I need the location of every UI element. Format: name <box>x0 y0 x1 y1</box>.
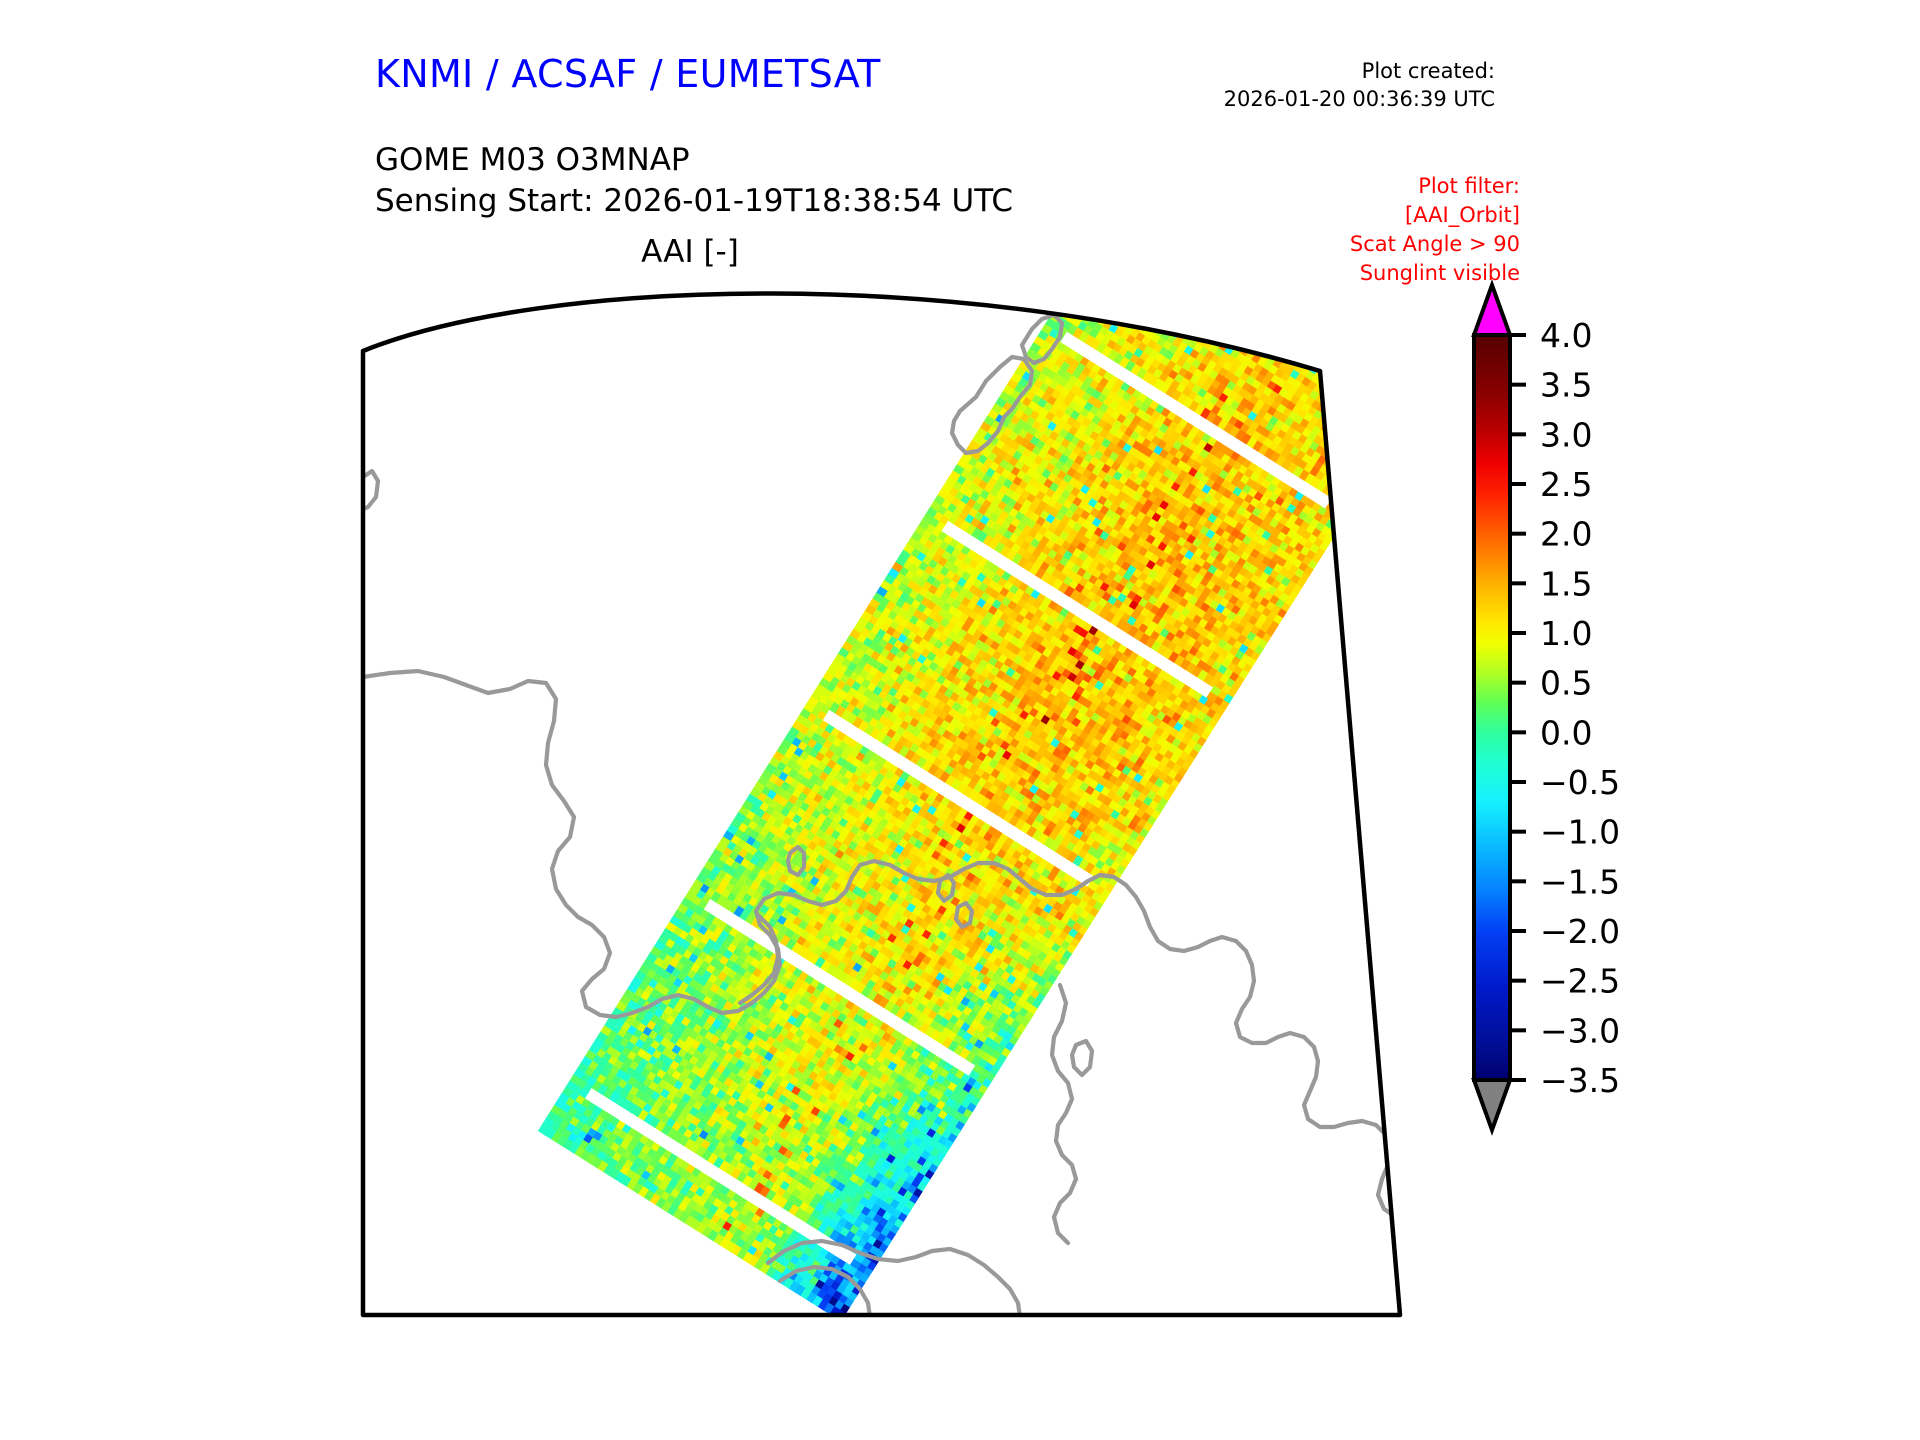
swath-cell <box>1360 406 1373 419</box>
product-info-block: GOME M03 O3MNAP Sensing Start: 2026-01-1… <box>375 140 1013 222</box>
swath-cell <box>1326 410 1339 423</box>
swath-cell <box>1334 474 1347 487</box>
swath-cell <box>1389 424 1402 437</box>
swath-cell <box>1318 345 1331 358</box>
swath-cell <box>1213 285 1226 292</box>
swath-cell <box>1343 472 1356 485</box>
swath-cell <box>1225 313 1238 326</box>
swath-cell <box>1374 423 1387 436</box>
swath-cell <box>1351 434 1364 447</box>
swath-cell <box>1380 401 1393 414</box>
swath-cell <box>1337 366 1350 379</box>
swath-cell <box>1325 359 1338 372</box>
swath-cell <box>1339 478 1352 491</box>
swath-cell <box>1393 393 1406 406</box>
swath-cell <box>1298 350 1311 363</box>
swath-cell <box>1071 301 1084 314</box>
swath-cell <box>1351 409 1364 422</box>
swath-cell <box>1347 389 1360 402</box>
swath-cell <box>1341 462 1354 475</box>
swath-cell <box>1399 396 1412 409</box>
swath-cell <box>1374 449 1387 462</box>
swath-cell <box>1069 291 1082 304</box>
swath-cell <box>1208 327 1221 340</box>
swath-cell <box>1341 360 1354 373</box>
swath-cell <box>1175 290 1188 303</box>
swath-cell <box>1366 435 1379 448</box>
swath-cell <box>1181 319 1194 332</box>
swath-cell <box>1248 302 1261 315</box>
swath-cell <box>1096 285 1109 287</box>
swath-cell <box>1231 291 1244 304</box>
swath-cell <box>1144 313 1157 326</box>
swath-cell <box>1372 388 1385 401</box>
swath-cell <box>1146 297 1159 310</box>
swath-cell <box>1327 368 1340 381</box>
swath-cell <box>1273 326 1286 339</box>
swath-cell <box>1078 289 1091 302</box>
swath-cell <box>1123 308 1136 321</box>
swath-cell <box>1200 314 1213 327</box>
swath-cell <box>1231 316 1244 329</box>
swath-cell <box>1165 318 1178 331</box>
swath-cell <box>1163 308 1176 321</box>
swath-cell <box>1215 315 1228 328</box>
swath-cell <box>1179 309 1192 322</box>
swath-cell <box>1132 285 1145 293</box>
swath-cell <box>1334 449 1347 462</box>
swath-cell <box>1351 485 1364 498</box>
swath-cell <box>1187 322 1200 335</box>
swath-cell <box>1368 394 1381 407</box>
swath-cell <box>1214 305 1227 318</box>
swath-cell <box>1190 316 1203 329</box>
swath-cell <box>1223 328 1236 341</box>
swath-cell <box>1387 389 1400 402</box>
swath-cell <box>1289 327 1302 340</box>
swath-cell <box>1136 285 1149 286</box>
swath-cell <box>1208 285 1221 289</box>
swath-cell <box>1328 394 1341 407</box>
swath-cell <box>1338 494 1351 507</box>
swath-cell <box>1335 407 1348 420</box>
swath-cell <box>1262 319 1275 332</box>
swath-cell <box>1387 415 1400 428</box>
swath-cell <box>1358 396 1371 409</box>
swath-cell <box>1237 320 1250 333</box>
swath-cell <box>1378 443 1391 456</box>
swath-cell <box>1127 302 1140 315</box>
swath-cell <box>1233 326 1246 339</box>
swath-cell <box>1300 334 1313 347</box>
quantity-title: AAI [-] <box>375 234 1005 270</box>
swath-cell <box>1242 323 1255 336</box>
swath-cell <box>1173 305 1186 318</box>
swath-cell <box>1320 355 1333 368</box>
swath-cell <box>1359 473 1372 486</box>
swath-cell <box>1161 298 1174 311</box>
swath-cell <box>1334 500 1347 513</box>
swath-cell <box>1266 312 1279 325</box>
swath-cell <box>1271 316 1284 329</box>
swath-cell <box>1194 310 1207 323</box>
swath-cell <box>1380 427 1393 440</box>
aai-data-swath <box>538 285 1417 1320</box>
swath-cell <box>1345 482 1358 495</box>
swath-cell <box>1353 444 1366 457</box>
swath-cell <box>1077 285 1090 291</box>
plot-filter-scat-angle: Scat Angle > 90 <box>1350 230 1520 259</box>
swath-cell <box>1169 311 1182 324</box>
organisation-title: KNMI / ACSAF / EUMETSAT <box>375 52 881 96</box>
swath-cell <box>1361 457 1374 470</box>
swath-cell <box>1339 427 1352 440</box>
swath-cell <box>1167 302 1180 315</box>
map-panel <box>360 285 1455 1320</box>
swath-cell <box>1279 330 1292 343</box>
swath-cell <box>1225 287 1238 300</box>
swath-cell <box>1246 317 1259 330</box>
swath-cell <box>1366 384 1379 397</box>
plot-created-block: Plot created: 2026-01-20 00:36:39 UTC <box>1224 58 1495 113</box>
swath-cell <box>1210 286 1223 299</box>
swath-cell <box>1405 400 1418 413</box>
swath-cell <box>1328 420 1341 433</box>
swath-cell <box>1347 466 1360 479</box>
swath-cell <box>1359 448 1372 461</box>
swath-cell <box>1115 295 1128 308</box>
swath-cell <box>1349 399 1362 412</box>
swath-cell <box>1382 385 1395 398</box>
swath-cell <box>1198 304 1211 317</box>
swath-cell <box>1136 299 1149 312</box>
swath-cell <box>1156 294 1169 307</box>
swath-cell <box>1370 429 1383 442</box>
swath-cell <box>1345 405 1358 418</box>
swath-cell <box>1177 285 1190 286</box>
swath-cell <box>1212 296 1225 309</box>
swath-cell <box>1188 285 1201 294</box>
swath-cell <box>1364 400 1377 413</box>
swath-cell <box>1198 285 1211 291</box>
swath-cell <box>1185 313 1198 326</box>
swath-cell <box>1237 294 1250 307</box>
swath-cell <box>1102 303 1115 316</box>
swath-cell <box>1142 285 1155 290</box>
swath-cell <box>1200 288 1213 301</box>
swath-cell <box>1291 337 1304 350</box>
swath-cell <box>1221 293 1234 306</box>
swath-cell <box>1362 416 1375 429</box>
swath-cell <box>1343 497 1356 510</box>
swath-cell <box>1082 285 1095 295</box>
swath-cell <box>1219 309 1232 322</box>
swath-cell <box>1150 316 1163 329</box>
swath-cell <box>1341 385 1354 398</box>
swath-cell <box>1204 308 1217 321</box>
swath-cell <box>1347 440 1360 453</box>
swath-cell <box>1131 296 1144 309</box>
swath-cell <box>1217 299 1230 312</box>
swath-cell <box>1341 411 1354 424</box>
swath-cell <box>1270 332 1283 345</box>
swath-cell <box>1158 304 1171 317</box>
swath-cell <box>1250 311 1263 324</box>
swath-cell <box>1125 292 1138 305</box>
plot-filter-label: Plot filter: <box>1350 172 1520 201</box>
swath-cell <box>1167 285 1180 289</box>
swath-cell <box>1264 328 1277 341</box>
plot-created-label: Plot created: <box>1224 58 1495 86</box>
swath-cell <box>1227 322 1240 335</box>
swath-cell <box>1384 421 1397 434</box>
swath-cell <box>1186 297 1199 310</box>
swath-cell <box>1359 422 1372 435</box>
swath-cell <box>1235 310 1248 323</box>
swath-cell <box>1357 438 1370 451</box>
swath-cell <box>1360 380 1373 393</box>
swath-cell <box>1314 351 1327 364</box>
swath-cell <box>1268 322 1281 335</box>
swath-cell <box>1260 334 1273 347</box>
swath-cell <box>1391 408 1404 421</box>
swath-cell <box>1075 295 1088 308</box>
swath-cell <box>1341 488 1354 501</box>
swath-cell <box>1306 338 1319 351</box>
swath-cell <box>1148 307 1161 320</box>
swath-cell <box>1183 285 1196 290</box>
swath-cell <box>1358 371 1371 384</box>
swath-cell <box>1295 331 1308 344</box>
swath-cell <box>1336 484 1349 497</box>
swath-cell <box>1088 286 1101 299</box>
swath-cell <box>1217 325 1230 338</box>
swath-cell <box>1341 437 1354 450</box>
swath-cell <box>1357 463 1370 476</box>
swath-cell <box>1339 452 1352 465</box>
swath-cell <box>1204 285 1217 295</box>
swath-cell <box>1343 446 1356 459</box>
swath-cell <box>1065 297 1078 310</box>
swath-cell <box>1258 325 1271 338</box>
swath-cell <box>1337 417 1350 430</box>
swath-cell <box>1129 286 1142 299</box>
swath-cell <box>1109 291 1122 304</box>
swath-cell <box>1343 421 1356 434</box>
map-canvas <box>360 285 1455 1320</box>
swath-cell <box>1194 285 1207 297</box>
swath-cell <box>1202 324 1215 337</box>
swath-cell <box>1123 285 1136 295</box>
swath-cell <box>1215 289 1228 302</box>
swath-cell <box>1188 307 1201 320</box>
swath-cell <box>1335 433 1348 446</box>
swath-cell <box>1154 285 1167 297</box>
swath-cell <box>1401 406 1414 419</box>
swath-cell <box>1351 383 1364 396</box>
swath-cell <box>1339 376 1352 389</box>
swath-cell <box>1285 333 1298 346</box>
swath-cell <box>1339 401 1352 414</box>
swath-cell <box>1324 349 1337 362</box>
swath-cell <box>1239 304 1252 317</box>
swath-cell <box>1138 309 1151 322</box>
product-name: GOME M03 O3MNAP <box>375 140 1013 181</box>
swath-cell <box>1163 285 1176 295</box>
swath-cell <box>1355 479 1368 492</box>
swath-cell <box>1345 379 1358 392</box>
swath-cell <box>1372 413 1385 426</box>
swath-cell <box>1144 287 1157 300</box>
swath-cell <box>1335 382 1348 395</box>
swath-cell <box>1227 297 1240 310</box>
swath-cell <box>1308 348 1321 361</box>
swath-cell <box>1094 290 1107 303</box>
swath-cell <box>1181 293 1194 306</box>
swath-cell <box>1393 418 1406 431</box>
swath-cell <box>1283 323 1296 336</box>
swath-cell <box>1378 417 1391 430</box>
swath-cell <box>1287 343 1300 356</box>
swath-cell <box>1370 455 1383 468</box>
swath-cell <box>1326 384 1339 397</box>
swath-cell <box>1332 465 1345 478</box>
swath-cell <box>1332 439 1345 452</box>
swath-cell <box>1084 292 1097 305</box>
swath-cell <box>1378 391 1391 404</box>
swath-cell <box>1357 412 1370 425</box>
sensing-start: Sensing Start: 2026-01-19T18:38:54 UTC <box>375 181 1013 222</box>
plot-filter-block: Plot filter: [AAI_Orbit] Scat Angle > 90… <box>1350 172 1520 288</box>
swath-cell <box>1152 285 1165 288</box>
swath-cell <box>1362 441 1375 454</box>
swath-cell <box>1242 298 1255 311</box>
swath-cell <box>1092 306 1105 319</box>
swath-cell <box>1347 363 1360 376</box>
swath-cell <box>1389 399 1402 412</box>
swath-cell <box>1337 443 1350 456</box>
swath-cell <box>1355 402 1368 415</box>
swath-cell <box>1256 341 1269 354</box>
swath-cell <box>1219 285 1232 296</box>
swath-cell <box>1374 398 1387 411</box>
swath-cell <box>1117 304 1130 317</box>
swath-cell <box>1331 413 1344 426</box>
swath-cell <box>1260 309 1273 322</box>
swath-cell <box>1071 285 1084 288</box>
swath-cell <box>1111 301 1124 314</box>
swath-cell <box>1210 311 1223 324</box>
swath-cell <box>1208 302 1221 315</box>
swath-cell <box>1059 293 1072 306</box>
swath-cell <box>1354 377 1367 390</box>
swath-cell <box>1363 467 1376 480</box>
swath-cell <box>1353 469 1366 482</box>
swath-cell <box>1355 454 1368 467</box>
swath-cell <box>1098 285 1111 296</box>
swath-cell <box>1169 286 1182 299</box>
swath-cell <box>1192 285 1205 288</box>
swath-cell <box>1159 288 1172 301</box>
swath-cell <box>1370 378 1383 391</box>
swath-cell <box>1119 288 1132 301</box>
swath-cell <box>1330 455 1343 468</box>
swath-cell <box>1349 424 1362 437</box>
swath-cell <box>1206 317 1219 330</box>
swath-cell <box>1331 388 1344 401</box>
swath-cell <box>1192 300 1205 313</box>
swath-cell <box>1244 333 1257 346</box>
swath-cell <box>1250 337 1263 350</box>
swath-cell <box>1106 297 1119 310</box>
swath-cell <box>1138 285 1151 296</box>
swath-cell <box>1349 373 1362 386</box>
swath-cell <box>1254 305 1267 318</box>
swath-cell <box>1196 294 1209 307</box>
swath-cell <box>1111 285 1124 288</box>
swath-cell <box>1364 451 1377 464</box>
swath-cell <box>1190 291 1203 304</box>
swath-cell <box>1121 298 1134 311</box>
swath-cell <box>1107 307 1120 320</box>
swath-cell <box>1328 445 1341 458</box>
swath-cell <box>1244 308 1257 321</box>
swath-cell <box>1293 347 1306 360</box>
plot-created-timestamp: 2026-01-20 00:36:39 UTC <box>1224 86 1495 114</box>
swath-cell <box>1239 330 1252 343</box>
swath-cell <box>1100 293 1113 306</box>
swath-cell <box>1395 402 1408 415</box>
swath-cell <box>1212 321 1225 334</box>
swath-cell <box>1349 476 1362 489</box>
swath-cell <box>1364 374 1377 387</box>
swath-cell <box>1160 314 1173 327</box>
swath-cell <box>1256 315 1269 328</box>
swath-cell <box>1382 411 1395 424</box>
swath-cell <box>1148 285 1161 294</box>
swath-cell <box>1343 370 1356 383</box>
swath-cell <box>1140 293 1153 306</box>
swath-cell <box>1353 367 1366 380</box>
swath-cell <box>1185 287 1198 300</box>
swath-cell <box>1347 415 1360 428</box>
swath-cell <box>1133 305 1146 318</box>
swath-cell <box>1223 303 1236 316</box>
swath-cell <box>1229 306 1242 319</box>
swath-cell <box>1173 285 1186 292</box>
swath-cell <box>1165 292 1178 305</box>
swath-cell <box>1266 338 1279 351</box>
swath-cell <box>1063 287 1076 300</box>
swath-cell <box>1385 405 1398 418</box>
swath-cell <box>1337 468 1350 481</box>
swath-cell <box>1351 460 1364 473</box>
swath-cell <box>1254 331 1267 344</box>
plot-filter-name: [AAI_Orbit] <box>1350 201 1520 230</box>
swath-cell <box>1376 382 1389 395</box>
swath-cell <box>1281 339 1294 352</box>
swath-cell <box>1221 319 1234 332</box>
swath-cell <box>1397 412 1410 425</box>
swath-cell <box>1096 299 1109 312</box>
swath-cell <box>1366 461 1379 474</box>
swath-cell <box>1196 320 1209 333</box>
swath-cell <box>1364 426 1377 439</box>
swath-cell <box>1331 362 1344 375</box>
swath-cell <box>1206 292 1219 305</box>
swath-cell <box>1302 344 1315 357</box>
swath-cell <box>1353 418 1366 431</box>
